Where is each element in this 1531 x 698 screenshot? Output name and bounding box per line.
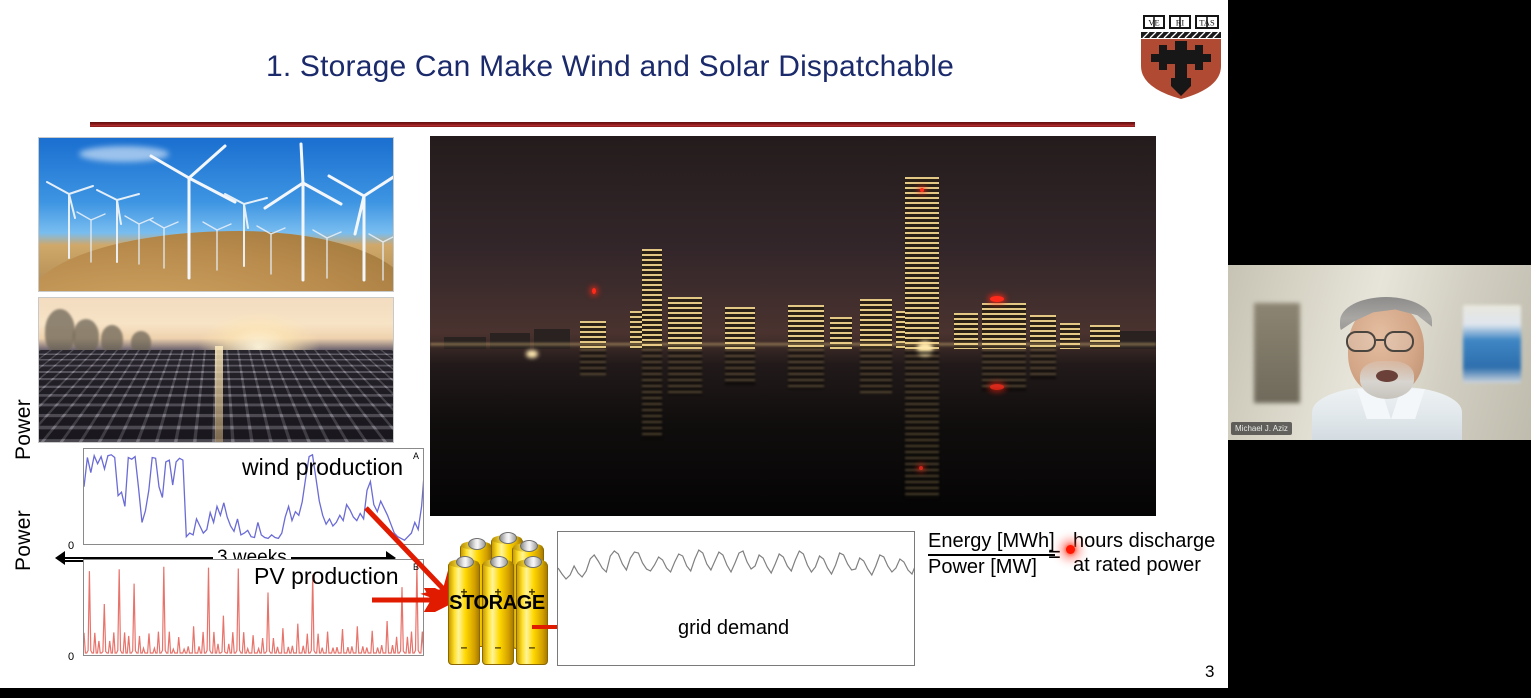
equation-rhs-line1: hours discharge bbox=[1073, 530, 1223, 554]
eyeglasses-right-lens bbox=[1384, 331, 1414, 352]
equation-denominator: Power [MW] bbox=[928, 556, 1055, 580]
pv-production-chart: Power 0 PV production B bbox=[28, 559, 424, 656]
title-divider-rule bbox=[90, 122, 1135, 127]
water-reflection-line bbox=[430, 343, 1156, 347]
laser-pointer-dot bbox=[1066, 545, 1075, 554]
wind-chart-corner-label: A bbox=[413, 451, 419, 461]
equation-fraction: Energy [MWh] Power [MW] bbox=[928, 530, 1055, 579]
pv-chart-ylabel: Power bbox=[12, 501, 36, 571]
battery-minus-sign: – bbox=[483, 640, 513, 654]
book-label-tas: TAS bbox=[1199, 18, 1215, 28]
wind-farm-photo bbox=[38, 137, 394, 292]
grid-demand-chart: grid demand bbox=[557, 531, 915, 666]
participant-name-label: Michael J. Aziz bbox=[1231, 422, 1292, 435]
pv-chart-plot-area: PV production B bbox=[83, 559, 424, 656]
battery-minus-sign: – bbox=[517, 640, 547, 654]
storage-label: STORAGE bbox=[443, 592, 551, 615]
equation-equals-sign: = bbox=[1048, 542, 1061, 568]
webcam-video-tile[interactable]: Michael J. Aziz bbox=[1228, 265, 1531, 440]
book-label-ve: VE bbox=[1148, 18, 1159, 28]
solar-farm-photo bbox=[38, 297, 394, 443]
eyeglasses-left-lens bbox=[1346, 331, 1376, 352]
energy-power-equation: Energy [MWh] Power [MW] = hours discharg… bbox=[928, 530, 1218, 590]
battery-minus-sign: – bbox=[449, 640, 479, 654]
equation-numerator: Energy [MWh] bbox=[928, 530, 1055, 556]
storage-batteries-graphic: + – + – + – + – + – bbox=[444, 534, 544, 667]
slide-page-number: 3 bbox=[1205, 662, 1214, 682]
wind-production-chart: Power 0 wind production A bbox=[28, 448, 424, 545]
screen: VE RI TAS 1. Storage Can bbox=[0, 0, 1531, 698]
wind-chart-series-label: wind production bbox=[242, 454, 403, 481]
participant-mouth bbox=[1376, 370, 1398, 382]
grid-demand-label: grid demand bbox=[678, 617, 789, 640]
background-doorway bbox=[1254, 303, 1300, 403]
page-title: 1. Storage Can Make Wind and Solar Dispa… bbox=[90, 50, 1130, 84]
eyeglasses-bridge bbox=[1376, 339, 1386, 341]
wind-chart-ylabel: Power bbox=[12, 390, 36, 460]
background-picture-frame bbox=[1463, 305, 1521, 383]
book-label-ri: RI bbox=[1176, 18, 1185, 28]
presentation-slide: VE RI TAS 1. Storage Can bbox=[0, 0, 1228, 688]
equation-right-hand-side: hours discharge at rated power bbox=[1073, 530, 1223, 577]
pv-chart-ytick-zero: 0 bbox=[68, 651, 74, 663]
city-skyline-night-photo bbox=[430, 136, 1156, 516]
pv-chart-series-label: PV production bbox=[254, 563, 398, 590]
harvard-seas-shield-logo: VE RI TAS bbox=[1133, 8, 1229, 100]
wind-chart-plot-area: wind production A bbox=[83, 448, 424, 545]
center-aisle bbox=[215, 346, 223, 443]
pv-chart-corner-label: B bbox=[413, 562, 419, 572]
equation-rhs-line2: at rated power bbox=[1073, 554, 1223, 578]
